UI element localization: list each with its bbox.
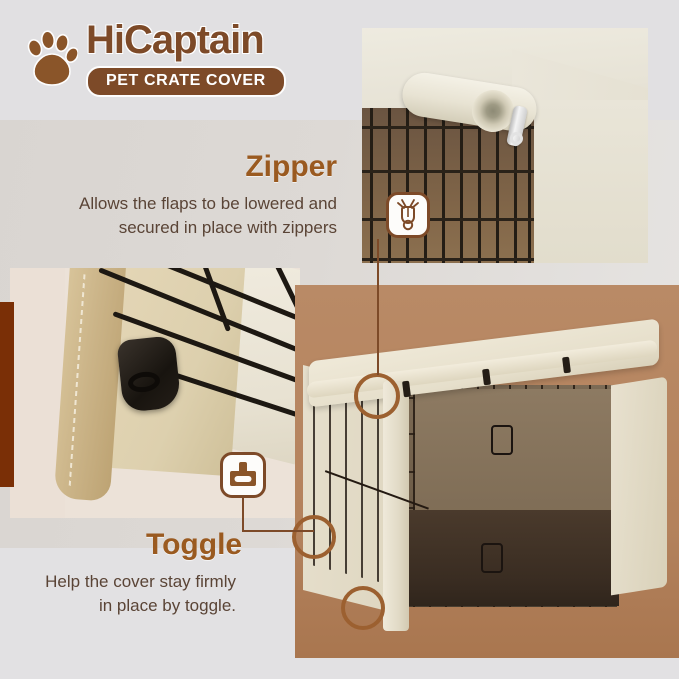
- toggle-clip-icon: [227, 460, 259, 490]
- connector-zipper: [377, 239, 379, 375]
- marker-toggle-mid: [292, 515, 336, 559]
- zipper-pull-icon-badge: [386, 192, 430, 238]
- crate-latch-upper: [491, 425, 513, 455]
- left-accent-bar: [0, 302, 14, 487]
- marker-toggle-low: [341, 586, 385, 630]
- crate-floor-tray: [407, 510, 619, 606]
- brand-logo: HiCaptain PET CRATE COVER: [24, 24, 292, 96]
- toggle-clip-icon-badge: [220, 452, 266, 498]
- infographic-canvas: HiCaptain PET CRATE COVER Zipper Allows …: [0, 0, 679, 679]
- crate-latch-lower: [481, 543, 503, 573]
- cover-right-panel: [611, 377, 667, 596]
- feature-title-toggle: Toggle: [146, 528, 242, 562]
- feature-description-toggle: Help the cover stay firmly in place by t…: [28, 570, 236, 618]
- marker-zipper-top: [354, 373, 400, 419]
- connector-toggle-horizontal: [242, 530, 314, 532]
- crate-back-wall: [415, 389, 611, 524]
- cover-side-panel: [530, 100, 648, 263]
- paw-print-icon: [26, 28, 78, 88]
- feature-title-zipper: Zipper: [245, 150, 337, 184]
- feature-description-zipper: Allows the flaps to be lowered and secur…: [37, 192, 337, 240]
- zipper-pull-icon: [393, 198, 423, 232]
- brand-name: HiCaptain: [86, 18, 264, 63]
- brand-tagline-ribbon: PET CRATE COVER: [86, 66, 286, 97]
- connector-toggle-vertical: [242, 498, 244, 532]
